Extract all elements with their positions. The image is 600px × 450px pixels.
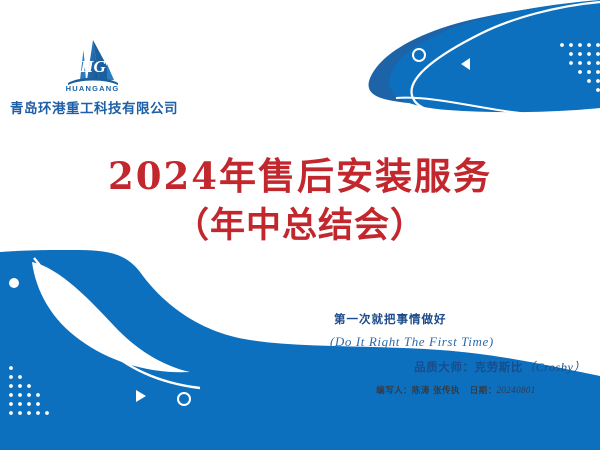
circle-outline-icon-bottom (178, 393, 190, 405)
quote-block: 第一次就把事情做好 (Do It Right The First Time) 品… (322, 311, 590, 396)
date-label: 日期： (470, 386, 497, 396)
credits-line: 编写人：陈涛 张传执日期：20240801 (322, 384, 590, 396)
logo-latin-name: HUANGANG (10, 84, 175, 93)
attribution-label: 品质大师： (414, 360, 475, 374)
author-names: 陈涛 张传执 (412, 386, 460, 396)
blue-wave-top-front (390, 0, 600, 112)
attribution-latin: （Crosby） (523, 360, 586, 374)
triangle-right-icon (136, 390, 146, 402)
dot-grid-top-right (560, 43, 600, 92)
date-value: 20240801 (496, 385, 535, 395)
huangang-mountain-logo-icon: HG (62, 36, 124, 86)
circle-filled-icon (9, 278, 19, 288)
quote-attribution: 品质大师：克劳斯比（Crosby） (322, 358, 590, 375)
page-subtitle: （年中总结会） (0, 201, 600, 250)
slide-title-block: 2024年售后安装服务 （年中总结会） (0, 152, 600, 250)
attribution-name: 克劳斯比 (475, 360, 523, 374)
white-curve-top-lower (396, 98, 600, 117)
circle-outline-icon (413, 49, 425, 61)
company-name-cn: 青岛环港重工科技有限公司 (10, 97, 175, 117)
dot-grid-bottom-left (9, 366, 49, 415)
company-logo-block: HG HUANGANG 青岛环港重工科技有限公司 (10, 36, 175, 117)
blue-wave-top-back (369, 2, 600, 106)
quote-english: (Do It Right The First Time) (322, 334, 590, 350)
presentation-title-slide: HG HUANGANG 青岛环港重工科技有限公司 2024年售后安装服务 （年中… (0, 0, 600, 450)
white-curve-bottom (34, 258, 200, 388)
svg-text:HG: HG (79, 57, 106, 76)
author-label: 编写人： (376, 386, 412, 396)
white-curve-top (412, 2, 600, 115)
triangle-left-icon (461, 58, 470, 70)
quote-chinese: 第一次就把事情做好 (322, 311, 590, 327)
page-title: 2024年售后安装服务 (0, 152, 600, 201)
white-leaf-bottom (32, 262, 190, 372)
